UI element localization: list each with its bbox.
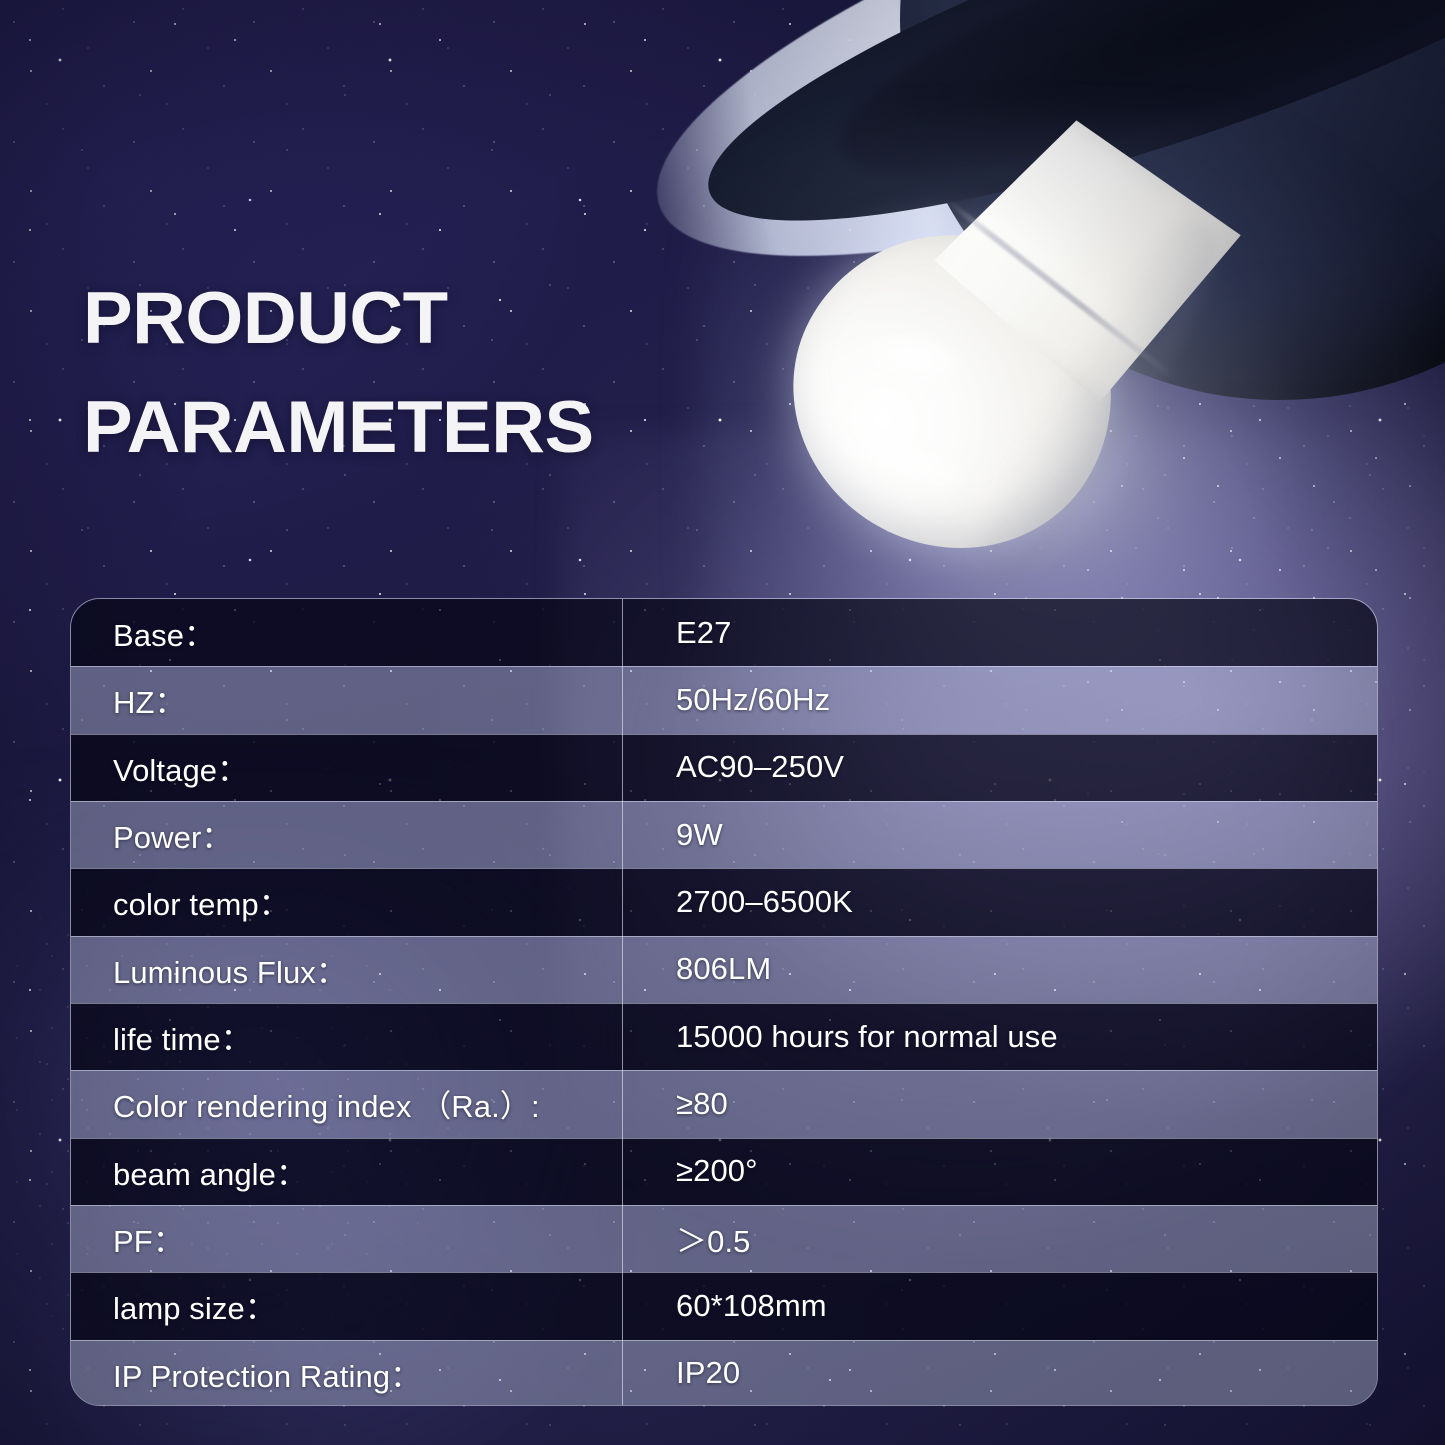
specifications-table: Base：E27HZ：50Hz/60HzVoltage：AC90–250VPow… bbox=[70, 598, 1378, 1406]
table-row: IP Protection Rating：IP20 bbox=[71, 1340, 1377, 1406]
spec-value: AC90–250V bbox=[623, 749, 1377, 785]
table-row: Color rendering index （Ra.）:≥80 bbox=[71, 1070, 1377, 1137]
spec-value: E27 bbox=[623, 615, 1377, 651]
page-title-line-2: PARAMETERS bbox=[83, 391, 858, 464]
table-row: PF：＞0.5 bbox=[71, 1205, 1377, 1272]
spec-value: 9W bbox=[623, 817, 1377, 853]
spec-label: Color rendering index （Ra.）: bbox=[71, 1081, 622, 1126]
table-row: life time：15000 hours for normal use bbox=[71, 1003, 1377, 1070]
page-title: PRODUCT PARAMETERS bbox=[83, 282, 858, 464]
product-parameters-infographic: PRODUCT PARAMETERS Base：E27HZ：50Hz/60HzV… bbox=[0, 0, 1445, 1445]
table-row: Base：E27 bbox=[71, 599, 1377, 666]
table-row: lamp size：60*108mm bbox=[71, 1272, 1377, 1339]
spec-label: PF： bbox=[71, 1216, 622, 1261]
spec-value: ≥200° bbox=[623, 1153, 1377, 1189]
spec-label: Base： bbox=[71, 610, 622, 655]
spec-value: 60*108mm bbox=[623, 1288, 1377, 1324]
page-title-line-1: PRODUCT bbox=[83, 282, 858, 355]
table-row: HZ：50Hz/60Hz bbox=[71, 666, 1377, 733]
spec-label: Power： bbox=[71, 812, 622, 857]
spec-value: 806LM bbox=[623, 951, 1377, 987]
spec-label: lamp size： bbox=[71, 1283, 622, 1328]
table-row: Luminous Flux：806LM bbox=[71, 936, 1377, 1003]
spec-label: life time： bbox=[71, 1014, 622, 1059]
spec-label: IP Protection Rating： bbox=[71, 1351, 622, 1396]
table-row: Voltage：AC90–250V bbox=[71, 734, 1377, 801]
spec-label: HZ： bbox=[71, 677, 622, 722]
spec-value: ≥80 bbox=[623, 1086, 1377, 1122]
spec-value: 15000 hours for normal use bbox=[623, 1019, 1377, 1055]
spec-value: ＞0.5 bbox=[623, 1216, 1377, 1261]
table-row: beam angle：≥200° bbox=[71, 1138, 1377, 1205]
spec-label: Voltage： bbox=[71, 745, 622, 790]
spec-value: 50Hz/60Hz bbox=[623, 682, 1377, 718]
spec-value: 2700–6500K bbox=[623, 884, 1377, 920]
spec-label: Luminous Flux： bbox=[71, 947, 622, 992]
table-row: color temp：2700–6500K bbox=[71, 868, 1377, 935]
table-row: Power：9W bbox=[71, 801, 1377, 868]
spec-label: beam angle： bbox=[71, 1149, 622, 1194]
spec-value: IP20 bbox=[623, 1355, 1377, 1391]
spec-label: color temp： bbox=[71, 879, 622, 924]
